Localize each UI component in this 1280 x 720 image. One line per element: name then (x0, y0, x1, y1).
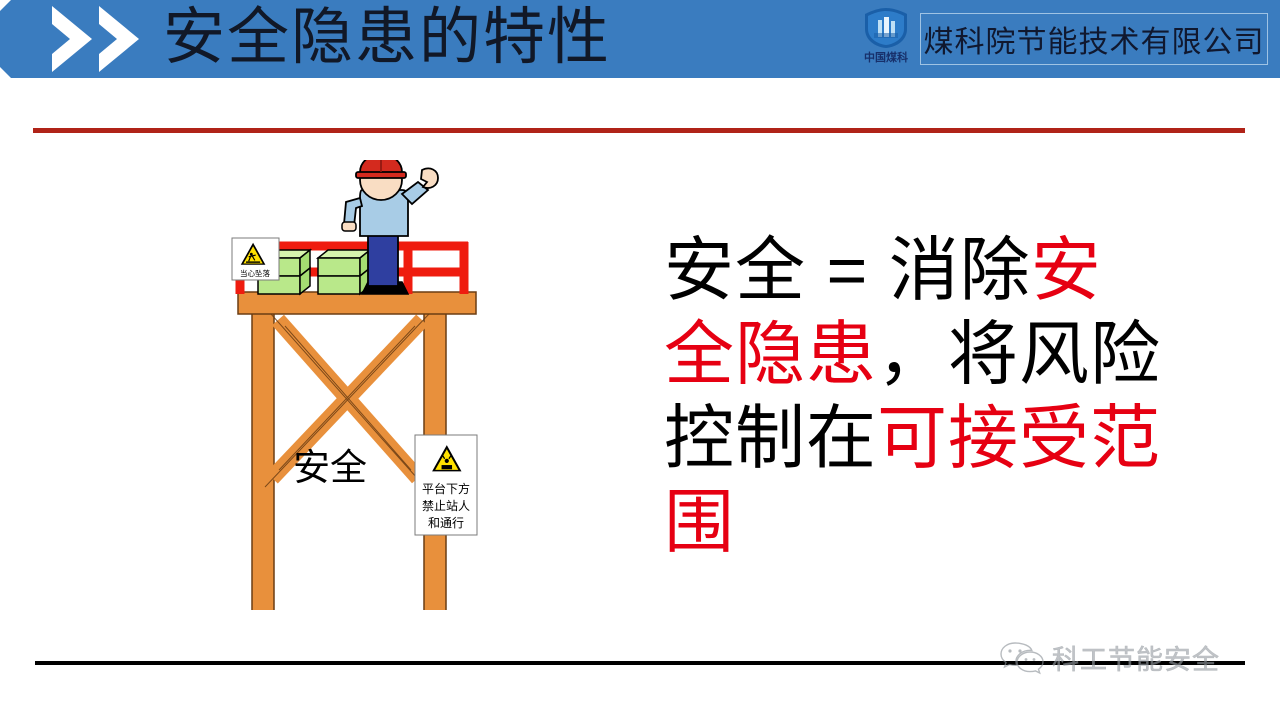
sign-bottom-line2: 禁止站人 (422, 499, 470, 513)
watermark-label: 科工节能安全 (1052, 638, 1220, 677)
top-divider-rule (33, 128, 1245, 133)
wechat-icon (1000, 641, 1044, 675)
statement-seg-1: 安全 = 消除 (664, 231, 1031, 309)
header-corner-notch-bottom (0, 67, 11, 78)
sign-top-text: 当心坠落 (240, 268, 270, 278)
company-name-box: 煤科院节能技术有限公司 (920, 13, 1268, 65)
scaffold-illustration: 当心坠落 平台下方 禁止站人 和通行 安全 (140, 160, 590, 610)
chevron-group (48, 0, 173, 78)
no-standing-below-platform-sign: 平台下方 禁止站人 和通行 (415, 435, 477, 535)
header-corner-notch-top (0, 0, 11, 11)
sign-bottom-line3: 和通行 (428, 516, 464, 530)
company-name-label: 煤科院节能技术有限公司 (924, 17, 1265, 61)
logo-caption: 中国煤科 (852, 49, 920, 65)
page-title: 安全隐患的特性 (163, 0, 611, 77)
footer-watermark: 科工节能安全 (1000, 638, 1220, 677)
chevron-right-icon-2 (95, 4, 149, 74)
slide-root: 安全隐患的特性 中国煤科 煤科院节能技术有限公司 (0, 0, 1280, 720)
sign-bottom-line1: 平台下方 (422, 481, 470, 496)
brand-logo: 中国煤科 (852, 5, 920, 75)
slide-header: 安全隐患的特性 中国煤科 煤科院节能技术有限公司 (0, 0, 1280, 78)
platform-deck (238, 292, 476, 314)
safety-statement: 安全 = 消除安全隐患，将风险控制在可接受范围 (664, 228, 1164, 564)
illustration-caption: 安全 (293, 447, 367, 488)
beware-of-falling-sign: 当心坠落 (232, 238, 279, 280)
china-coal-logo-icon (862, 7, 910, 49)
chevron-right-icon (48, 4, 102, 74)
